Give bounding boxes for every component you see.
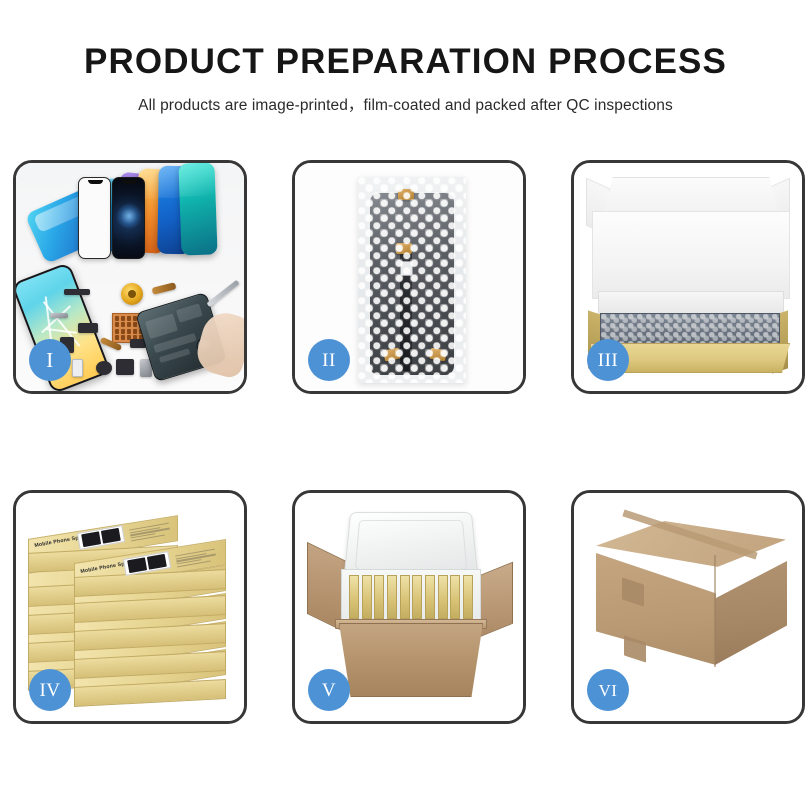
carton-front (339, 623, 483, 697)
process-step-panel-3[interactable]: III (571, 160, 805, 394)
carton-edge (714, 555, 716, 667)
spare-part-rail (50, 313, 68, 318)
process-step-panel-1[interactable]: I (13, 160, 247, 394)
bubble-wrapped-screen-icon (358, 177, 466, 383)
glass-and-screen-pair-icon (78, 177, 146, 259)
process-step-panel-6[interactable]: VI (571, 490, 805, 724)
step-badge-6: VI (587, 669, 629, 711)
bubble-wrap-texture (358, 177, 466, 383)
chassis-block (145, 313, 178, 339)
white-glass-panel (78, 177, 111, 259)
step-badge-1: I (29, 339, 71, 381)
carton-left-face (596, 553, 716, 665)
bubble-wrapped-stack (600, 313, 780, 345)
page-title: PRODUCT PREPARATION PROCESS (0, 44, 811, 81)
step-badge-5: V (308, 669, 350, 711)
fanned-phone-5-icon (178, 162, 217, 255)
spare-part-camera (116, 359, 134, 375)
bubble-texture (601, 314, 779, 344)
header: PRODUCT PREPARATION PROCESS All products… (0, 44, 811, 115)
spare-part-button (96, 361, 112, 375)
page-subtitle: All products are image-printed，film-coat… (0, 93, 811, 115)
process-step-grid: I II (13, 160, 805, 735)
spare-part-sim-tray (72, 359, 83, 377)
white-box-lid-face (592, 211, 790, 299)
process-step-panel-4[interactable]: Mobile Phone Spare Parts (13, 490, 247, 724)
notch-icon (122, 180, 137, 184)
carton-right-face (715, 561, 787, 665)
process-step-panel-5[interactable]: V (292, 490, 526, 724)
process-step-panel-2[interactable]: II (292, 160, 526, 394)
notch-icon (88, 180, 103, 184)
gold-boxes-inside (349, 575, 473, 619)
spare-part-strip (64, 289, 90, 295)
black-lcd-panel (112, 177, 145, 259)
step-badge-4: IV (29, 669, 71, 711)
step-badge-3: III (587, 339, 629, 381)
product-preparation-page: PRODUCT PREPARATION PROCESS All products… (0, 0, 811, 811)
spare-part-chip (78, 323, 98, 333)
step-badge-2: II (308, 339, 350, 381)
chassis-block (176, 304, 203, 323)
speaker-coil-icon (121, 283, 143, 305)
